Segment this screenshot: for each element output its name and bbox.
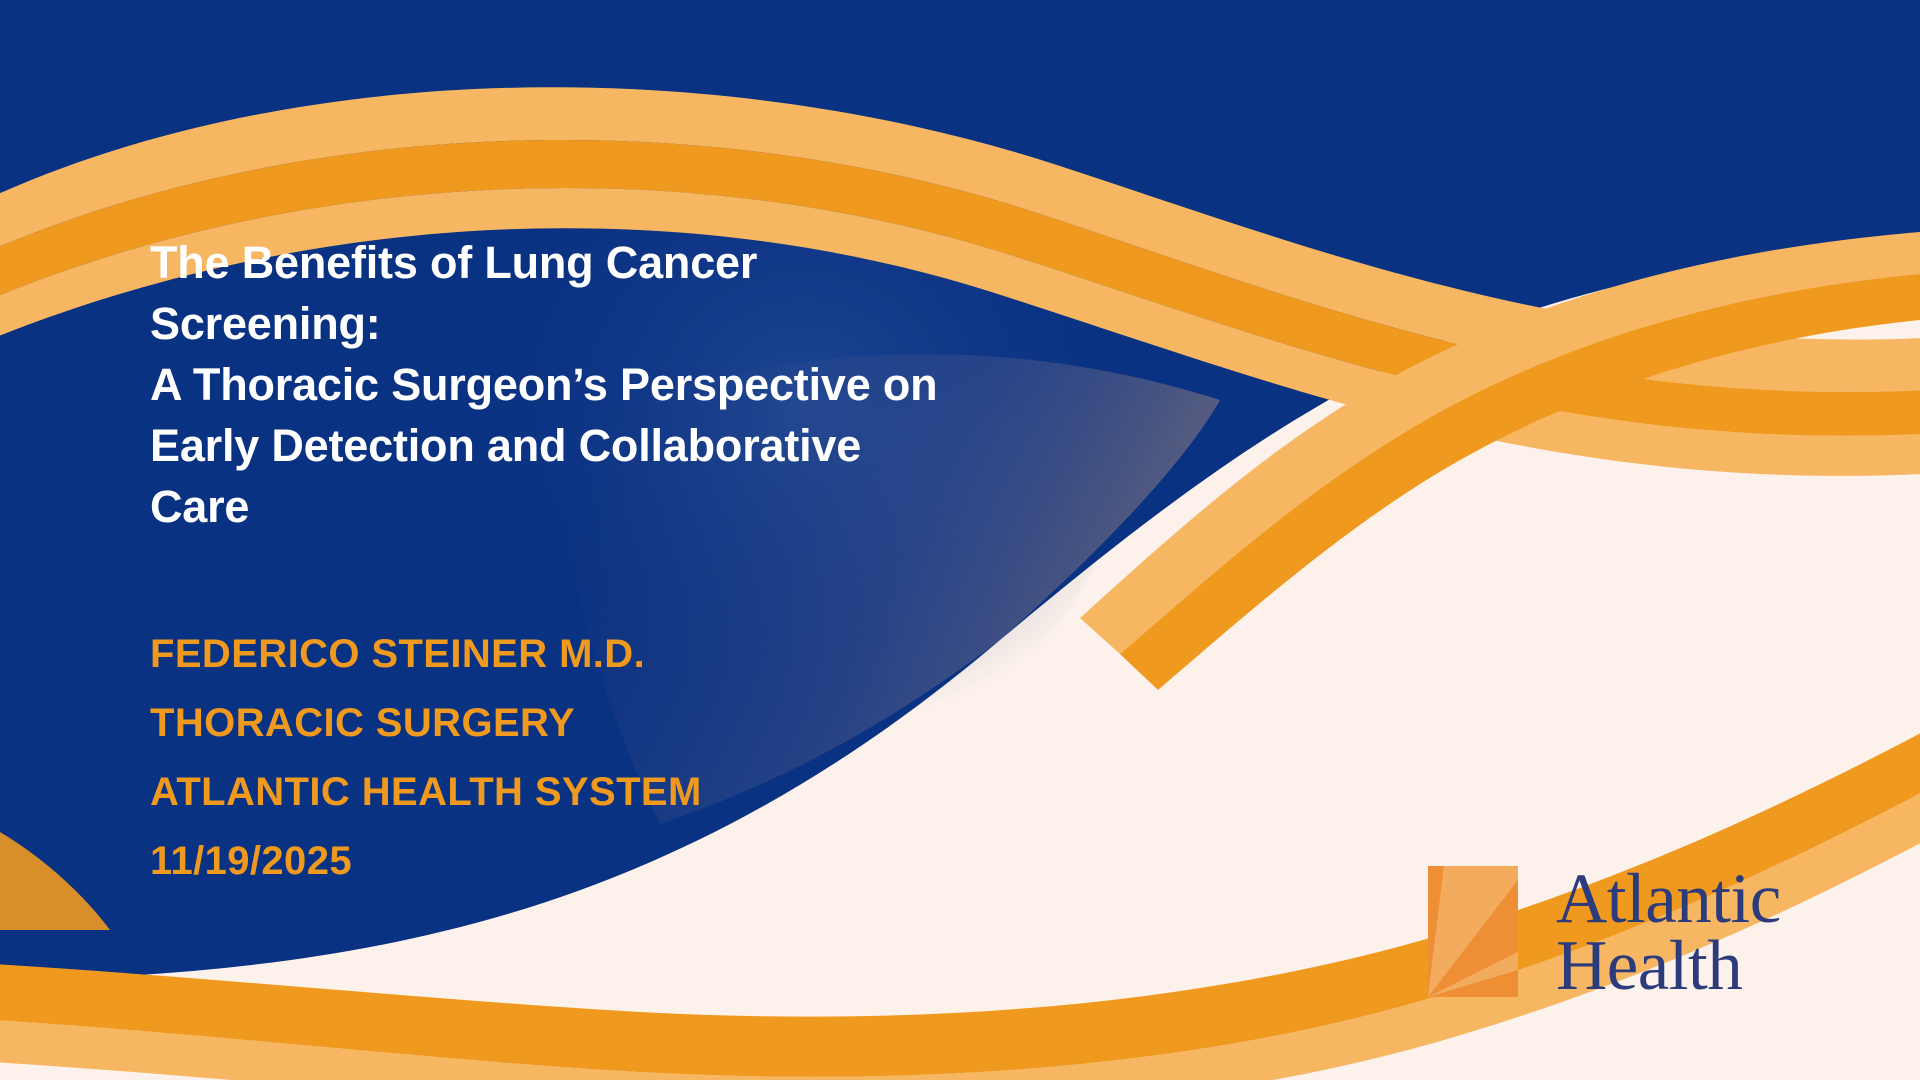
logo-word-atlantic: Atlantic [1556,866,1781,933]
sunburst-icon [1428,866,1518,997]
title-line-3: A Thoracic Surgeon’s Perspective on [150,354,1160,415]
title-line-4: Early Detection and Collaborative [150,415,1160,476]
presenter-department: THORACIC SURGERY [150,689,1160,758]
presenter-organization: ATLANTIC HEALTH SYSTEM [150,758,1160,827]
presenter-name: FEDERICO STEINER M.D. [150,620,1160,689]
presentation-slide: The Benefits of Lung Cancer Screening: A… [0,0,1920,1080]
title-line-1: The Benefits of Lung Cancer [150,232,1160,293]
logo-word-health: Health [1556,933,1781,1000]
presenter-info: FEDERICO STEINER M.D. THORACIC SURGERY A… [150,620,1160,896]
title-line-2: Screening: [150,293,1160,354]
title-line-5: Care [150,476,1160,537]
presentation-date: 11/19/2025 [150,827,1160,896]
atlantic-health-logo: Atlantic Health [1428,866,1781,1001]
slide-title: The Benefits of Lung Cancer Screening: A… [150,232,1160,537]
